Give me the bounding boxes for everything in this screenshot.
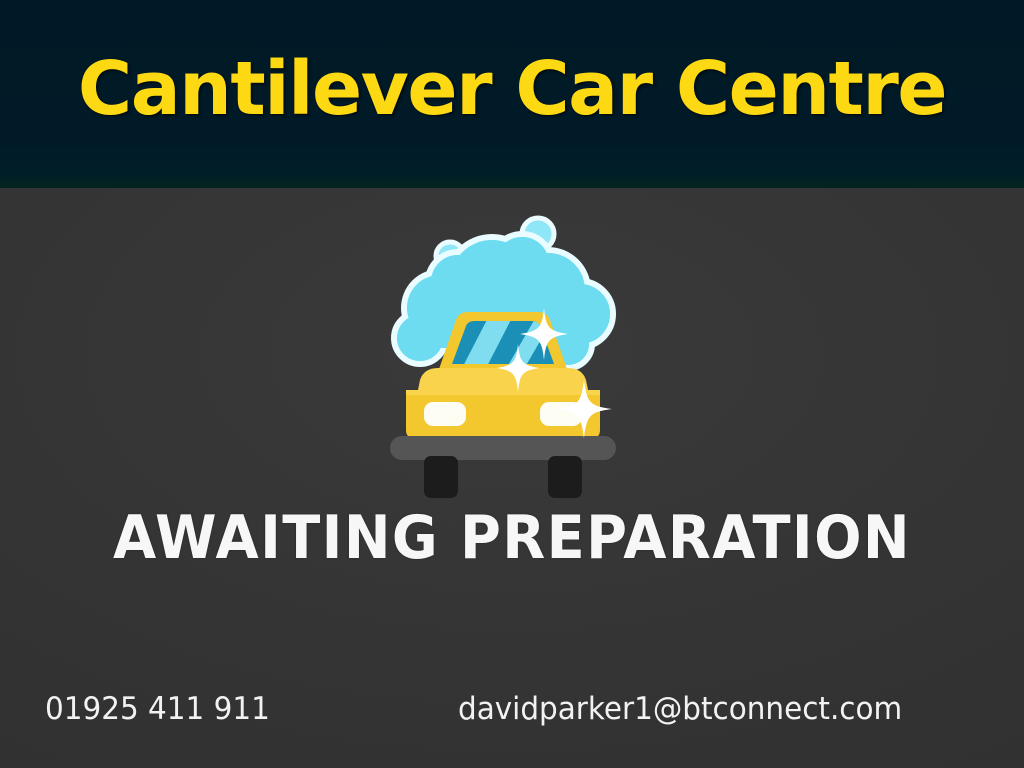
page-title: Cantilever Car Centre <box>0 0 1024 188</box>
car-wash-icon <box>362 204 642 484</box>
status-badge: AWAITING PREPARATION <box>36 498 988 578</box>
footer-contact-row: 01925 411 911 davidparker1@btconnect.com <box>0 686 1024 742</box>
header-band: Cantilever Car Centre <box>0 0 1024 188</box>
car-body-group <box>406 368 600 438</box>
car-windshield-group <box>438 310 568 376</box>
phone-number: 01925 411 911 <box>45 686 270 732</box>
vehicle-placeholder-placard: Cantilever Car Centre <box>0 0 1024 768</box>
car-bumper-group <box>390 436 616 498</box>
email-address: davidparker1@btconnect.com <box>458 686 902 732</box>
